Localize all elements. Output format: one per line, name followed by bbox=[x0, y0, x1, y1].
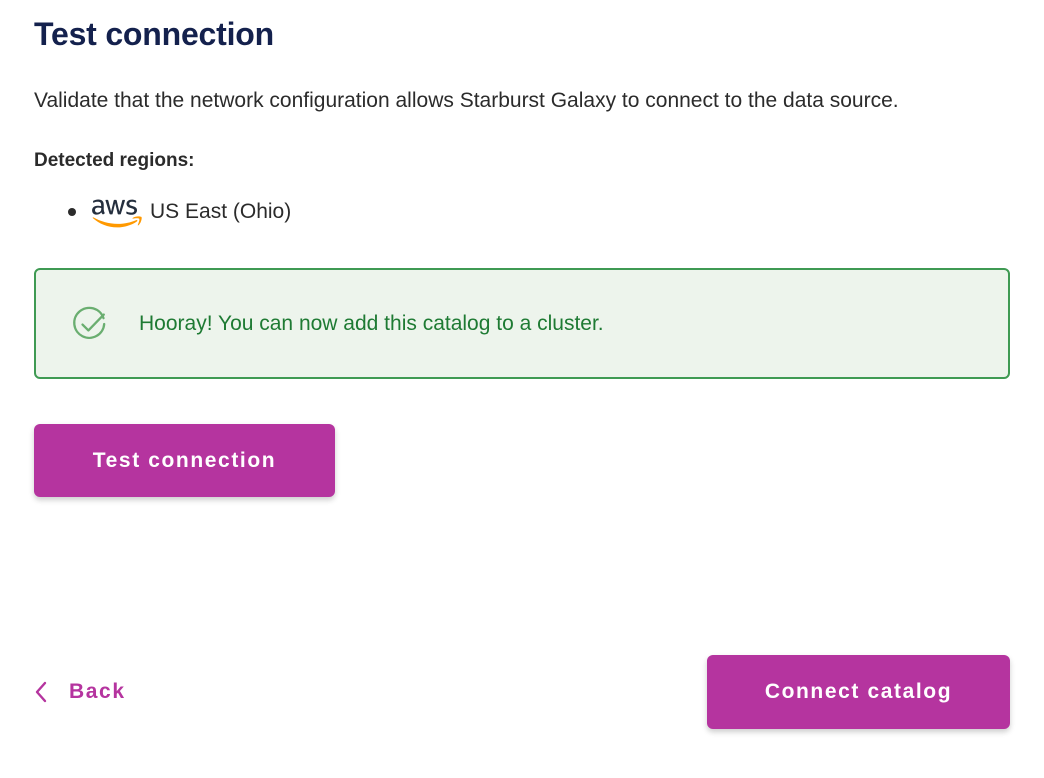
chevron-left-icon bbox=[34, 680, 48, 704]
status-banner-message: Hooray! You can now add this catalog to … bbox=[139, 310, 604, 338]
test-connection-panel: Test connection Validate that the networ… bbox=[0, 0, 1044, 778]
back-button-label: Back bbox=[69, 680, 126, 704]
aws-logo-icon bbox=[90, 195, 142, 229]
connect-catalog-button[interactable]: Connect catalog bbox=[707, 655, 1010, 729]
list-item: US East (Ohio) bbox=[34, 195, 1010, 229]
page-description: Validate that the network configuration … bbox=[34, 55, 994, 125]
back-button[interactable]: Back bbox=[34, 680, 126, 704]
detected-regions-label: Detected regions: bbox=[34, 125, 1010, 174]
status-banner: Hooray! You can now add this catalog to … bbox=[34, 268, 1010, 379]
wizard-footer: Back Connect catalog bbox=[34, 655, 1010, 729]
page-title: Test connection bbox=[34, 0, 1010, 55]
check-circle-icon bbox=[70, 304, 110, 344]
test-connection-button[interactable]: Test connection bbox=[34, 424, 335, 497]
region-name: US East (Ohio) bbox=[150, 197, 291, 227]
detected-regions-list: US East (Ohio) bbox=[34, 174, 1010, 229]
